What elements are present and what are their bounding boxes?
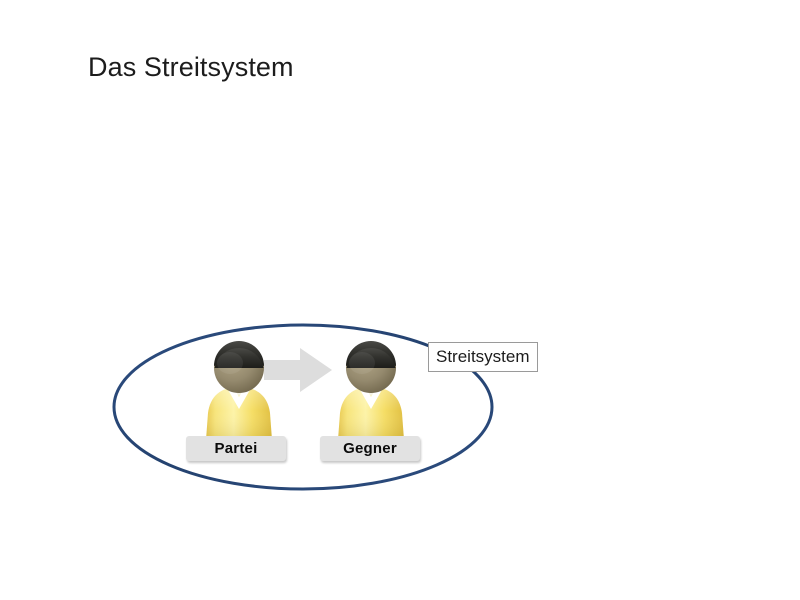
person-icon [328,341,414,445]
system-boundary-label: Streitsystem [428,342,538,372]
person-icon [196,341,282,445]
diagram-vector-layer [0,0,800,600]
actor-label-gegner: Gegner [320,436,420,461]
slide-canvas: Das Streitsystem [0,0,800,600]
actor-label-partei: Partei [186,436,286,461]
person-icon-gegner [328,341,414,445]
streitsystem-diagram: Partei Gegner Streitsystem [0,0,800,600]
person-icon-partei [196,341,282,445]
